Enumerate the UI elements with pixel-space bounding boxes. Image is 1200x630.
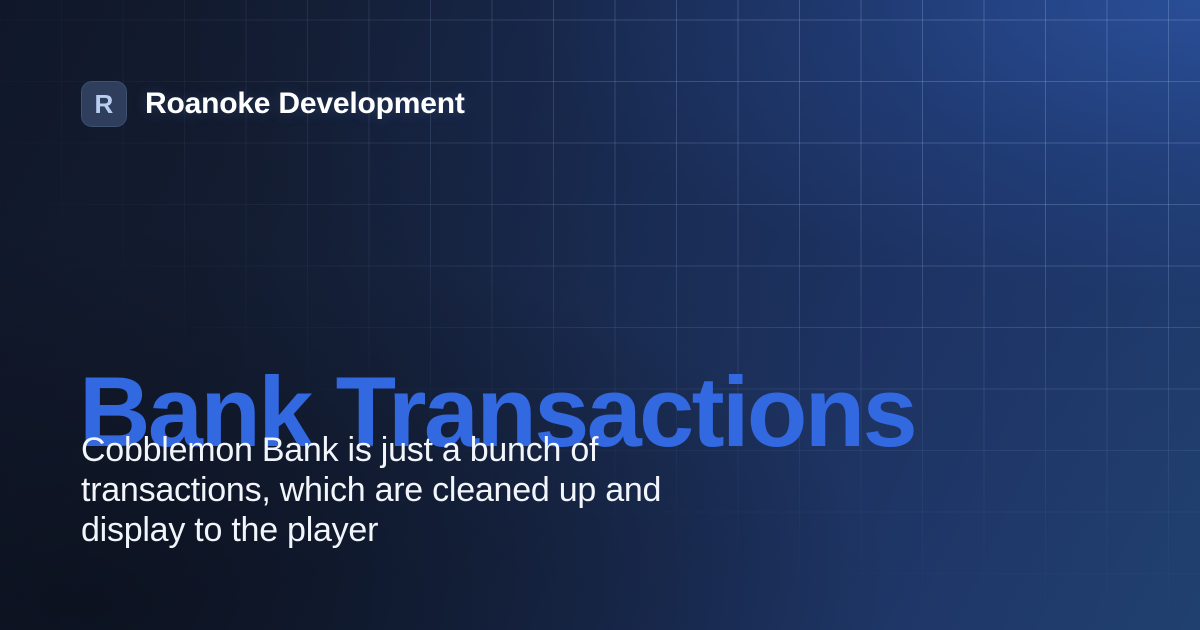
card-content: R Roanoke Development Bank Transactions … bbox=[0, 0, 1200, 630]
brand-header: R Roanoke Development bbox=[81, 81, 465, 127]
subtitle-line-2: transactions, which are cleaned up and bbox=[81, 470, 781, 510]
og-social-card: R Roanoke Development Bank Transactions … bbox=[0, 0, 1200, 630]
brand-name: Roanoke Development bbox=[145, 87, 465, 121]
subtitle-line-1: Cobblemon Bank is just a bunch of bbox=[81, 430, 781, 470]
brand-logo-badge: R bbox=[81, 81, 127, 127]
subtitle-line-3: display to the player bbox=[81, 510, 781, 550]
page-subtitle: Cobblemon Bank is just a bunch of transa… bbox=[81, 430, 781, 550]
